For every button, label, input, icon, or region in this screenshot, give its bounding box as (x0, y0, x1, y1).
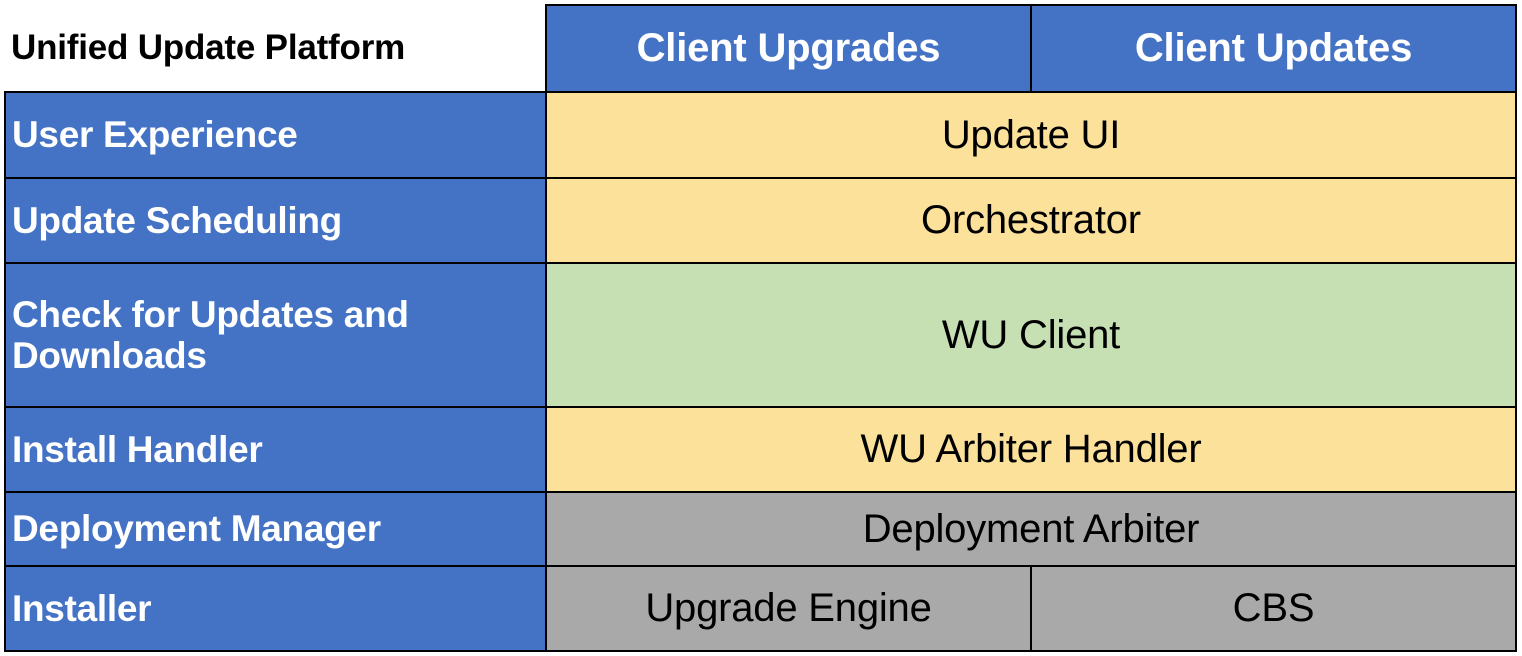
cell-upgrade-engine: Upgrade Engine (546, 566, 1031, 651)
cell-deployment-arbiter: Deployment Arbiter (546, 492, 1516, 566)
table-row: Check for Updates and Downloads WU Clien… (5, 263, 1516, 407)
table-row: Install Handler WU Arbiter Handler (5, 407, 1516, 492)
row-header-user-experience: User Experience (5, 92, 546, 178)
row-header-update-scheduling: Update Scheduling (5, 178, 546, 263)
cell-update-ui: Update UI (546, 92, 1516, 178)
row-header-installer: Installer (5, 566, 546, 651)
table-row: Installer Upgrade Engine CBS (5, 566, 1516, 651)
cell-cbs: CBS (1031, 566, 1516, 651)
table-row: Update Scheduling Orchestrator (5, 178, 1516, 263)
row-header-check-for-updates-and-downloads: Check for Updates and Downloads (5, 263, 546, 407)
column-header-client-updates: Client Updates (1031, 5, 1516, 92)
row-header-install-handler: Install Handler (5, 407, 546, 492)
table-header-row: Unified Update Platform Client Upgrades … (5, 5, 1516, 92)
page-title: Unified Update Platform (5, 5, 546, 92)
cell-wu-client: WU Client (546, 263, 1516, 407)
cell-wu-arbiter-handler: WU Arbiter Handler (546, 407, 1516, 492)
unified-update-platform-table: Unified Update Platform Client Upgrades … (4, 4, 1517, 652)
table-row: Deployment Manager Deployment Arbiter (5, 492, 1516, 566)
row-header-deployment-manager: Deployment Manager (5, 492, 546, 566)
column-header-client-upgrades: Client Upgrades (546, 5, 1031, 92)
cell-orchestrator: Orchestrator (546, 178, 1516, 263)
table-row: User Experience Update UI (5, 92, 1516, 178)
